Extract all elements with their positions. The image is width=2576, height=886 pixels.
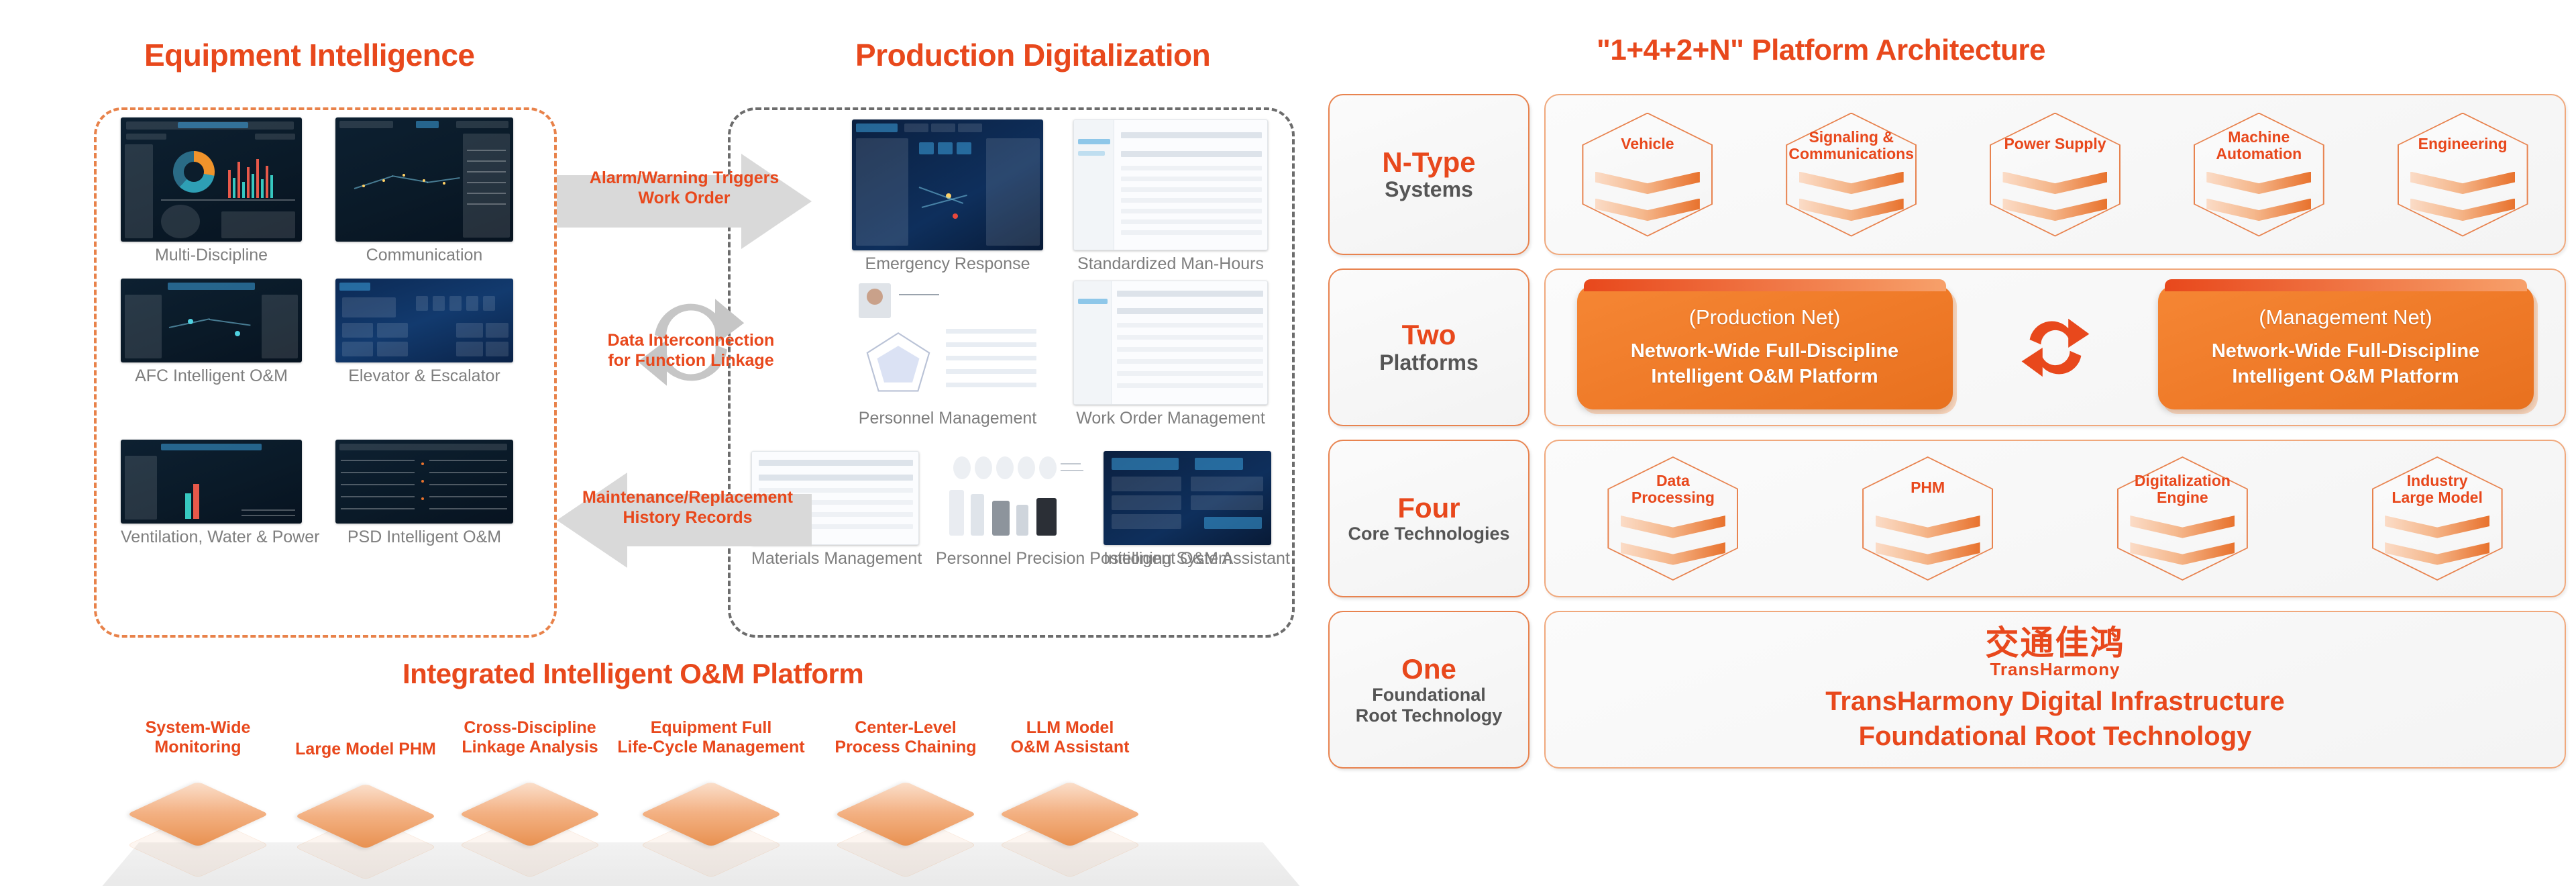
thumb-elevator: Elevator & Escalator (335, 279, 513, 386)
dashboard-preview-communication (335, 117, 513, 242)
thumb-caption: Work Order Management (1073, 409, 1268, 428)
hex-item-industry-large-model[interactable]: Industry Large Model (2372, 456, 2503, 581)
pillar-center-level-process: Center-Level Process Chaining (822, 718, 989, 824)
connector-line-1: Data Interconnection (608, 331, 775, 350)
connector-line-2: for Function Linkage (608, 351, 773, 370)
thumb-caption: Elevator & Escalator (335, 366, 513, 386)
thumb-ventilation: Ventilation, Water & Power (121, 440, 302, 547)
two-way-sync-icon (2015, 307, 2096, 388)
thumb-work-order: Work Order Management (1073, 281, 1268, 428)
hex-label: Industry Large Model (2372, 473, 2503, 507)
dashboard-preview-emergency (852, 119, 1043, 250)
hex-item-signaling-communications[interactable]: Signaling & Communications (1786, 113, 1917, 237)
connector-label-maintenance: Maintenance/Replacement History Records (537, 487, 839, 528)
row-body-two-platforms: (Production Net) Network-Wide Full-Disci… (1544, 268, 2566, 426)
row-label-big: Four (1397, 493, 1460, 524)
hex-item-power-supply[interactable]: Power Supply (1990, 113, 2121, 237)
thumb-communication: Communication (335, 117, 513, 265)
connector-line-2: History Records (623, 508, 752, 527)
thumb-caption: Multi-Discipline (121, 246, 302, 265)
left-panel: Equipment Intelligence (0, 0, 1315, 886)
platform-card-text: Network-Wide Full-Discipline Intelligent… (1631, 338, 1898, 390)
dashboard-preview-ventilation (121, 440, 302, 524)
thumb-caption: PSD Intelligent O&M (335, 528, 513, 547)
pillar-diamond (986, 760, 1154, 824)
pillar-system-wide-monitoring: System-Wide Monitoring (114, 718, 282, 824)
hex-label: Power Supply (1990, 136, 2121, 152)
row-label-n-type: N-Type Systems (1328, 94, 1529, 255)
pillar-large-model-phm: Large Model PHM (282, 718, 449, 826)
thumb-caption: Communication (335, 246, 513, 265)
connector-line-2: Work Order (638, 189, 730, 207)
production-digitalization-title: Production Digitalization (855, 37, 1210, 73)
row-label-sub-1: Foundational (1372, 685, 1485, 705)
thumb-personnel-management: Personnel Management (852, 281, 1043, 428)
thumb-caption: Standardized Man-Hours (1073, 254, 1268, 274)
dashboard-preview-psd (335, 440, 513, 524)
hex-label: Machine Automation (2194, 129, 2324, 163)
transharmony-logo-en: TransHarmony (1990, 659, 2120, 680)
platform-card-net: (Management Net) (2259, 305, 2432, 330)
platform-card-management-net[interactable]: (Management Net) Network-Wide Full-Disci… (2158, 285, 2534, 409)
thumb-caption: Personnel Management (852, 409, 1043, 428)
pillar-diamond (822, 760, 989, 824)
pillar-label: Cross-Discipline Linkage Analysis (446, 718, 614, 757)
architecture-title: "1+4+2+N" Platform Architecture (1597, 34, 2045, 67)
arch-row-one-foundation: One Foundational Root Technology 交通佳鸿 Tr… (1328, 611, 2566, 769)
thumb-man-hours: Standardized Man-Hours (1073, 119, 1268, 274)
thumb-caption: Personnel Precision Positioning System (936, 549, 1087, 568)
connector-line-1: Alarm/Warning Triggers (590, 168, 779, 187)
dashboard-preview-positioning (936, 451, 1087, 545)
hex-label: Data Processing (1607, 473, 1738, 507)
dashboard-preview-elevator (335, 279, 513, 362)
pillar-diamond (610, 760, 812, 824)
thumb-om-assistant: Intelligent O&M Assistant (1104, 451, 1271, 569)
dashboard-preview-man-hours (1073, 119, 1268, 250)
right-panel: "1+4+2+N" Platform Architecture N-Type S… (1315, 0, 2576, 886)
row-label-sub: Core Technologies (1348, 524, 1509, 544)
pillar-llm-om-assistant: LLM Model O&M Assistant (986, 718, 1154, 824)
hex-label: Digitalization Engine (2117, 473, 2248, 507)
pillar-diamond (114, 760, 282, 824)
hex-item-machine-automation[interactable]: Machine Automation (2194, 113, 2324, 237)
integrated-platform-title: Integrated Intelligent O&M Platform (402, 658, 863, 690)
dashboard-preview-work-order (1073, 281, 1268, 405)
thumb-caption: AFC Intelligent O&M (121, 366, 302, 386)
platform-card-production-net[interactable]: (Production Net) Network-Wide Full-Disci… (1577, 285, 1953, 409)
row-label-big: Two (1402, 319, 1456, 350)
pillar-label: Large Model PHM (282, 718, 449, 759)
dashboard-preview-afc (121, 279, 302, 362)
hex-label: Vehicle (1582, 136, 1713, 152)
pillar-label: System-Wide Monitoring (114, 718, 282, 757)
row-label-big: One (1401, 654, 1456, 685)
equipment-intelligence-title: Equipment Intelligence (144, 37, 475, 73)
pillar-diamond (446, 760, 614, 824)
foundation-line-1: TransHarmony Digital Infrastructure (1825, 684, 2285, 719)
thumb-psd: PSD Intelligent O&M (335, 440, 513, 547)
thumb-afc: AFC Intelligent O&M (121, 279, 302, 386)
pillar-equipment-lifecycle: Equipment Full Life-Cycle Management (610, 718, 812, 824)
pillar-label: Equipment Full Life-Cycle Management (610, 718, 812, 757)
hex-label: Engineering (2398, 136, 2528, 152)
hex-label: Signaling & Communications (1786, 129, 1917, 163)
row-body-n-type: Vehicle Signaling & Communications (1544, 94, 2566, 255)
row-label-two: Two Platforms (1328, 268, 1529, 426)
arch-row-two-platforms: Two Platforms (Production Net) Network-W… (1328, 268, 2566, 426)
platform-card-text: Network-Wide Full-Discipline Intelligent… (2212, 338, 2479, 390)
thumb-positioning-system: Personnel Precision Positioning System (936, 451, 1087, 568)
arch-row-n-type: N-Type Systems Vehicle Signaling & C (1328, 94, 2566, 255)
thumb-emergency-response: Emergency Response (852, 119, 1043, 274)
thumb-caption: Emergency Response (852, 254, 1043, 274)
row-body-foundation: 交通佳鸿 TransHarmony TransHarmony Digital I… (1544, 611, 2566, 769)
hex-item-vehicle[interactable]: Vehicle (1582, 113, 1713, 237)
arch-row-four-core: Four Core Technologies Data Processing (1328, 440, 2566, 597)
thumb-multi-discipline: Multi-Discipline (121, 117, 302, 265)
row-label-sub: Systems (1385, 178, 1473, 202)
connector-line-1: Maintenance/Replacement (582, 488, 793, 507)
thumb-caption: Ventilation, Water & Power (121, 528, 302, 547)
connector-label-alarm: Alarm/Warning Triggers Work Order (557, 168, 812, 208)
transharmony-logo-cn: 交通佳鸿 (1986, 626, 2125, 661)
platform-card-net: (Production Net) (1689, 305, 1841, 330)
dashboard-preview-personnel (852, 281, 1043, 405)
hex-item-digitalization-engine[interactable]: Digitalization Engine (2117, 456, 2248, 581)
foundation-line-2: Foundational Root Technology (1859, 719, 2252, 754)
row-label-big: N-Type (1382, 147, 1475, 178)
row-label-sub-2: Root Technology (1356, 705, 1502, 726)
pillar-diamond (282, 762, 449, 826)
connector-label-data: Data Interconnection for Function Linkag… (550, 330, 832, 371)
row-label-one: One Foundational Root Technology (1328, 611, 1529, 769)
row-body-four-core: Data Processing PHM (1544, 440, 2566, 597)
dashboard-preview-multi-discipline (121, 117, 302, 242)
hex-item-data-processing[interactable]: Data Processing (1607, 456, 1738, 581)
hex-label: PHM (1862, 479, 1993, 496)
hex-item-engineering[interactable]: Engineering (2398, 113, 2528, 237)
pillar-label: LLM Model O&M Assistant (986, 718, 1154, 757)
pillar-label: Center-Level Process Chaining (822, 718, 989, 757)
thumb-caption: Intelligent O&M Assistant (1104, 549, 1271, 569)
hex-item-phm[interactable]: PHM (1862, 456, 1993, 581)
row-label-sub: Platforms (1379, 351, 1479, 375)
dashboard-preview-om-assistant (1104, 451, 1271, 545)
row-label-four: Four Core Technologies (1328, 440, 1529, 597)
pillar-cross-discipline-linkage: Cross-Discipline Linkage Analysis (446, 718, 614, 824)
infographic-page: Equipment Intelligence (0, 0, 2576, 886)
